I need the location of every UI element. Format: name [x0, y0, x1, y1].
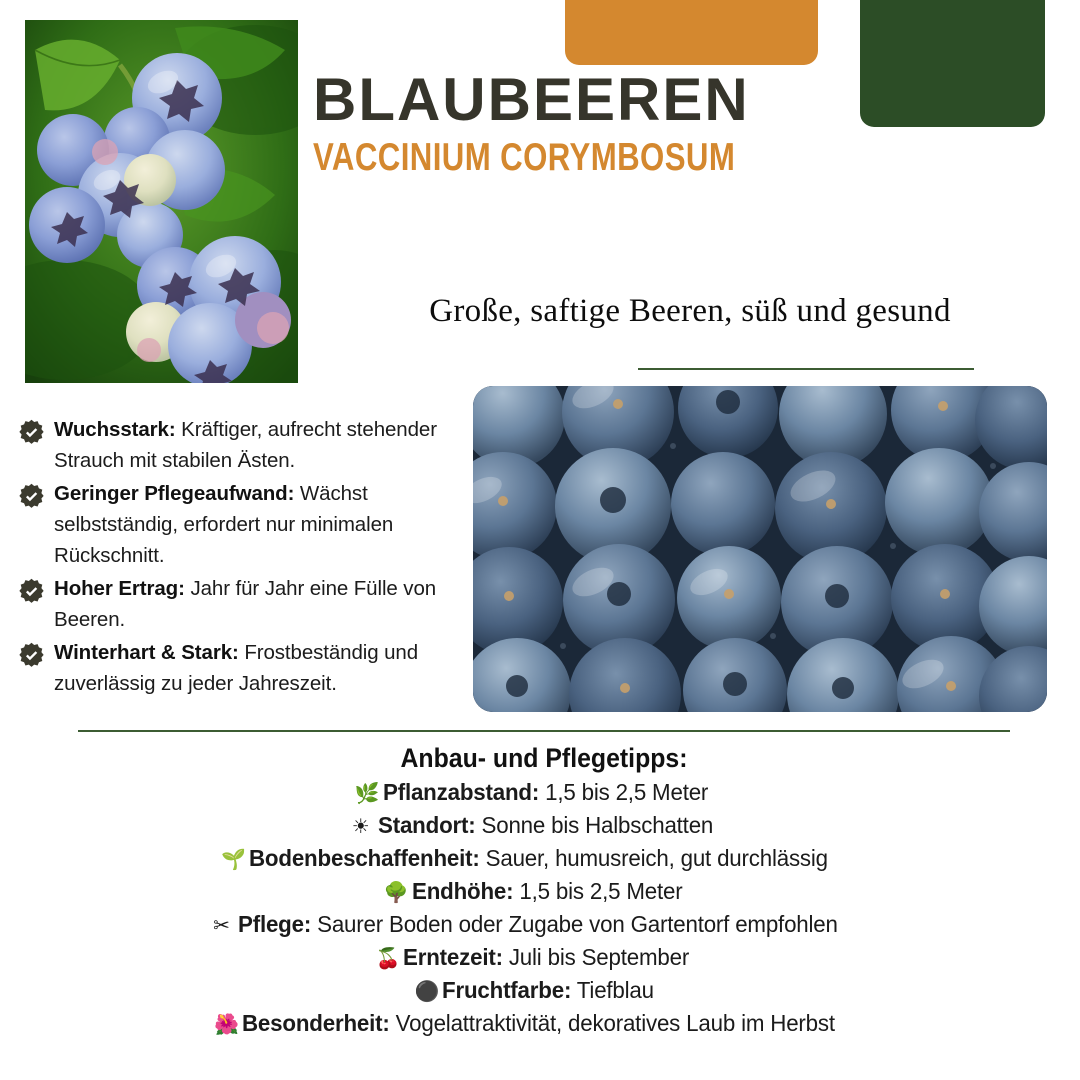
tip-label: Pflanzabstand:	[383, 779, 539, 805]
list-item: ✂ Pflege: Saurer Boden oder Zugabe von G…	[210, 911, 869, 944]
scissors-icon: ✂	[210, 916, 232, 936]
tips-heading: Anbau- und Pflegetipps:	[115, 743, 972, 774]
tagline: Große, saftige Beeren, süß und gesund	[340, 293, 1040, 330]
tip-value: Tiefblau	[572, 977, 655, 1003]
blueberry-bush-photo	[25, 20, 298, 383]
check-seal-icon	[18, 578, 45, 605]
tip-value: 1,5 bis 2,5 Meter	[539, 779, 708, 805]
hibiscus-icon: 🌺	[214, 1015, 236, 1035]
feature-label: Hoher Ertrag:	[54, 577, 185, 600]
tip-text: Fruchtfarbe: Tiefblau	[442, 977, 654, 1004]
list-item: 🌿 Pflanzabstand: 1,5 bis 2,5 Meter	[355, 779, 725, 812]
tip-label: Endhöhe:	[412, 878, 513, 904]
tip-text: Standort: Sonne bis Halbschatten	[378, 812, 713, 839]
page-title: BLAUBEEREN	[313, 68, 1033, 133]
herb-icon: 🌿	[355, 784, 377, 804]
list-item: Winterhart & Stark: Frostbeständig und z…	[18, 637, 488, 699]
cherries-icon: 🍒	[375, 949, 397, 969]
check-seal-icon	[18, 419, 45, 446]
list-item: 🌳 Endhöhe: 1,5 bis 2,5 Meter	[384, 878, 697, 911]
scientific-name: VACCINIUM CORYMBOSUM	[313, 137, 889, 180]
feature-label: Wuchsstark:	[54, 418, 176, 441]
feature-label: Geringer Pflegeaufwand:	[54, 482, 294, 505]
blueberries-closeup-photo	[473, 386, 1047, 712]
tip-text: Erntezeit: Juli bis September	[403, 944, 689, 971]
feature-list: Wuchsstark: Kräftiger, aufrecht stehende…	[18, 414, 488, 701]
list-item: ⚫ Fruchtfarbe: Tiefblau	[414, 977, 665, 1010]
tip-label: Bodenbeschaffenheit:	[249, 845, 480, 871]
tip-text: Besonderheit: Vogelattraktivität, dekora…	[242, 1010, 835, 1037]
list-item: 🌺 Besonderheit: Vogelattraktivität, deko…	[214, 1010, 866, 1043]
feature-label: Winterhart & Stark:	[54, 641, 239, 664]
orange-decorative-block	[565, 0, 818, 65]
tip-value: 1,5 bis 2,5 Meter	[513, 878, 682, 904]
tip-label: Pflege:	[238, 911, 311, 937]
tip-value: Juli bis September	[503, 944, 689, 970]
check-seal-icon	[18, 483, 45, 510]
tips-divider	[78, 730, 1010, 732]
list-item: 🍒 Erntezeit: Juli bis September	[375, 944, 704, 977]
tip-text: Pflanzabstand: 1,5 bis 2,5 Meter	[383, 779, 708, 806]
tagline-divider	[638, 368, 974, 370]
sun-icon: ☀	[350, 817, 372, 837]
tip-text: Bodenbeschaffenheit: Sauer, humusreich, …	[249, 845, 828, 872]
tip-value: Saurer Boden oder Zugabe von Gartentorf …	[311, 911, 838, 937]
feature-text: Wuchsstark: Kräftiger, aufrecht stehende…	[54, 414, 488, 476]
list-item: 🌱 Bodenbeschaffenheit: Sauer, humusreich…	[221, 845, 858, 878]
dark-circle-icon: ⚫	[414, 982, 436, 1002]
list-item: Hoher Ertrag: Jahr für Jahr eine Fülle v…	[18, 573, 488, 635]
feature-text: Winterhart & Stark: Frostbeständig und z…	[54, 637, 488, 699]
tree-icon: 🌳	[384, 883, 406, 903]
tip-value: Sauer, humusreich, gut durchlässig	[480, 845, 828, 871]
tip-value: Sonne bis Halbschatten	[475, 812, 713, 838]
feature-text: Hoher Ertrag: Jahr für Jahr eine Fülle v…	[54, 573, 488, 635]
check-seal-icon	[18, 642, 45, 669]
tip-label: Erntezeit:	[403, 944, 503, 970]
list-item: ☀ Standort: Sonne bis Halbschatten	[350, 812, 731, 845]
tip-value: Vogelattraktivität, dekoratives Laub im …	[390, 1010, 835, 1036]
tips-list: 🌿 Pflanzabstand: 1,5 bis 2,5 Meter ☀ Sta…	[0, 779, 1080, 1043]
list-item: Wuchsstark: Kräftiger, aufrecht stehende…	[18, 414, 488, 476]
seedling-icon: 🌱	[221, 850, 243, 870]
feature-text: Geringer Pflegeaufwand: Wächst selbststä…	[54, 478, 488, 571]
title-block: BLAUBEEREN VACCINIUM CORYMBOSUM	[313, 68, 1033, 180]
tip-text: Pflege: Saurer Boden oder Zugabe von Gar…	[238, 911, 838, 938]
list-item: Geringer Pflegeaufwand: Wächst selbststä…	[18, 478, 488, 571]
tip-text: Endhöhe: 1,5 bis 2,5 Meter	[412, 878, 682, 905]
tip-label: Standort:	[378, 812, 476, 838]
tip-label: Fruchtfarbe:	[442, 977, 571, 1003]
tip-label: Besonderheit:	[242, 1010, 390, 1036]
